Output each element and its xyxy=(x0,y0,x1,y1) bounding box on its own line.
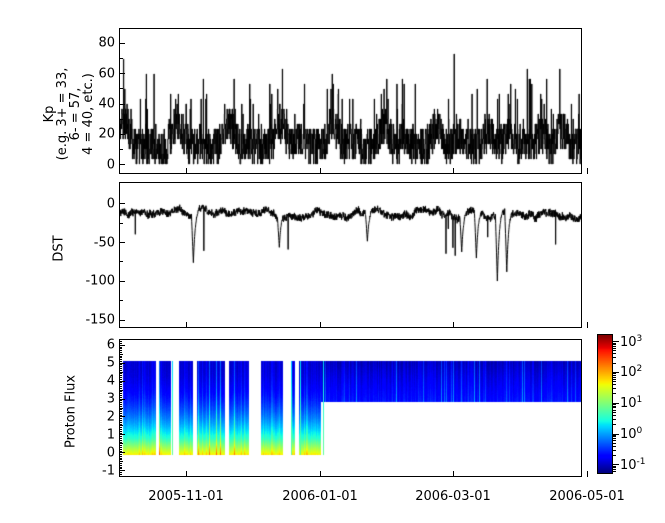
xtick-mark xyxy=(587,168,588,174)
ytick-minor xyxy=(119,364,122,365)
ytick-minor xyxy=(119,357,122,358)
xtick-mark xyxy=(320,471,321,477)
ytick-minor xyxy=(119,88,123,89)
colorbar-tick-label: 103 xyxy=(620,334,642,350)
ytick-minor xyxy=(119,434,122,435)
ytick-minor xyxy=(119,427,122,428)
kp-label-line: 4 = 40, etc.) xyxy=(82,39,95,189)
ytick-minor xyxy=(119,424,122,425)
ytick-minor xyxy=(119,422,122,423)
colorbar-tick-label: 101 xyxy=(620,395,642,411)
ytick-label: -1 xyxy=(75,463,115,478)
colorbar-tick-minor xyxy=(613,379,616,380)
ytick-minor xyxy=(119,395,122,396)
ytick-minor xyxy=(119,402,122,403)
ytick-minor xyxy=(119,438,122,439)
ytick-minor xyxy=(119,223,123,224)
ytick-minor xyxy=(119,382,122,383)
xtick-label: 2005-11-01 xyxy=(148,489,224,504)
proton-flux-heatmap-canvas xyxy=(120,340,581,476)
ytick-label: 0 xyxy=(75,445,115,460)
colorbar-tick-minor xyxy=(613,406,616,407)
ytick-minor xyxy=(119,436,122,437)
xtick-mark xyxy=(320,322,321,328)
colorbar-tick-label: 100 xyxy=(620,426,642,442)
ytick-minor xyxy=(119,472,122,473)
ytick-minor xyxy=(119,339,122,340)
colorbar-tick-minor xyxy=(613,438,616,439)
ytick-minor xyxy=(119,413,122,414)
colorbar-tick-minor xyxy=(613,384,616,385)
ytick-label: 3 xyxy=(75,392,115,407)
colorbar-tick-minor xyxy=(613,446,616,447)
ytick-minor xyxy=(119,465,122,466)
ytick-minor xyxy=(119,404,122,405)
colorbar-tick-minor xyxy=(613,404,616,405)
ytick-minor xyxy=(119,399,122,400)
ytick-minor xyxy=(119,431,122,432)
ytick-minor xyxy=(119,476,122,477)
ytick-minor xyxy=(119,454,122,455)
ytick-label: 0 xyxy=(75,196,115,211)
colorbar-tick-minor xyxy=(613,450,616,451)
colorbar-tick-minor xyxy=(613,363,616,364)
ytick-label: 4 xyxy=(75,374,115,389)
ytick-minor xyxy=(119,440,122,441)
figure-root: 020406080 Kp(e.g. 3+ = 33,6- = 57,4 = 40… xyxy=(0,0,665,523)
ytick-minor xyxy=(119,411,122,412)
xtick-mark xyxy=(453,322,454,328)
colorbar-tick-minor xyxy=(613,471,616,472)
ytick-minor xyxy=(119,354,122,355)
colorbar-tick-minor xyxy=(613,350,616,351)
ytick-minor xyxy=(119,433,122,434)
ytick-minor xyxy=(119,343,122,344)
ytick-minor xyxy=(119,379,122,380)
ytick-minor xyxy=(119,370,122,371)
ytick-minor xyxy=(119,415,122,416)
colorbar-tick-minor xyxy=(613,469,616,470)
ytick-minor xyxy=(119,470,122,471)
ytick-minor xyxy=(119,352,122,353)
colorbar-tick-minor xyxy=(613,388,616,389)
ytick-minor xyxy=(119,363,122,364)
ytick-minor xyxy=(119,456,122,457)
ytick-minor xyxy=(119,366,122,367)
xtick-label: 2006-03-01 xyxy=(415,489,491,504)
colorbar-tick-minor xyxy=(613,440,616,441)
colorbar-tick-minor xyxy=(613,412,616,413)
panel-kp xyxy=(119,28,582,174)
colorbar-tick-label: 10-1 xyxy=(620,457,646,473)
colorbar-tick-minor xyxy=(613,467,616,468)
colorbar-tick-minor xyxy=(613,424,616,425)
colorbar-tick-minor xyxy=(613,419,616,420)
colorbar-tick-label: 102 xyxy=(620,364,642,380)
xtick-mark xyxy=(587,471,588,477)
colorbar-tick-minor xyxy=(613,393,616,394)
proton-axis-label: Proton Flux xyxy=(65,357,78,467)
colorbar-tick-minor xyxy=(613,407,616,408)
ytick-minor xyxy=(119,459,122,460)
kp-axis-label: Kp(e.g. 3+ = 33,6- = 57,4 = 40, etc.) xyxy=(43,39,95,189)
ytick-minor xyxy=(119,409,122,410)
ytick-minor xyxy=(119,348,122,349)
colorbar-tick-minor xyxy=(613,410,616,411)
xtick-mark xyxy=(186,168,187,174)
ytick-label: 1 xyxy=(75,427,115,442)
colorbar-tick-minor xyxy=(613,343,616,344)
ytick-minor xyxy=(119,468,122,469)
ytick-minor xyxy=(119,359,122,360)
ytick-mark xyxy=(119,320,125,321)
ytick-minor xyxy=(119,356,122,357)
ytick-minor xyxy=(119,347,122,348)
colorbar-exponent: 1 xyxy=(637,395,643,405)
colorbar-exponent: 3 xyxy=(637,334,643,344)
colorbar-exponent: 0 xyxy=(637,426,643,436)
ytick-minor xyxy=(119,393,122,394)
ytick-mark xyxy=(119,203,125,204)
colorbar-tick-minor xyxy=(613,348,616,349)
ytick-minor xyxy=(119,429,122,430)
ytick-minor xyxy=(119,372,122,373)
panel-proton-flux xyxy=(119,339,582,477)
ytick-minor xyxy=(119,149,123,150)
ytick-minor xyxy=(119,408,122,409)
colorbar-tick-minor xyxy=(613,455,616,456)
ytick-minor xyxy=(119,384,122,385)
ytick-mark xyxy=(119,164,125,165)
dst-axis-label: DST xyxy=(53,214,66,284)
ytick-minor xyxy=(119,58,123,59)
ytick-label: 6 xyxy=(75,338,115,353)
xtick-mark xyxy=(320,168,321,174)
ytick-label: -100 xyxy=(75,274,115,289)
colorbar-tick-minor xyxy=(613,373,616,374)
xtick-mark xyxy=(453,168,454,174)
colorbar-tick-minor xyxy=(613,357,616,358)
ytick-minor xyxy=(119,390,122,391)
ytick-minor xyxy=(119,397,122,398)
ytick-label: -150 xyxy=(75,313,115,328)
ytick-minor xyxy=(119,391,122,392)
colorbar-exponent: 2 xyxy=(637,364,643,374)
ytick-minor xyxy=(119,386,122,387)
ytick-minor xyxy=(119,445,122,446)
ytick-minor xyxy=(119,443,122,444)
ytick-label: 2 xyxy=(75,409,115,424)
ytick-label: 5 xyxy=(75,356,115,371)
ytick-minor xyxy=(119,442,122,443)
dst-trace-canvas xyxy=(120,183,581,327)
ytick-mark xyxy=(119,73,125,74)
ytick-minor xyxy=(119,377,122,378)
ytick-mark xyxy=(119,104,125,105)
colorbar-tick-minor xyxy=(613,377,616,378)
ytick-minor xyxy=(119,474,122,475)
xtick-mark xyxy=(453,471,454,477)
colorbar-tick-minor xyxy=(613,436,616,437)
colorbar-tick-minor xyxy=(613,353,616,354)
ytick-minor xyxy=(119,447,122,448)
xtick-label: 2006-05-01 xyxy=(549,489,625,504)
ytick-mark xyxy=(119,43,125,44)
ytick-label: -50 xyxy=(75,235,115,250)
ytick-mark xyxy=(119,281,125,282)
ytick-minor xyxy=(119,416,122,417)
ytick-minor xyxy=(119,406,122,407)
ytick-minor xyxy=(119,381,122,382)
colorbar-exponent: -1 xyxy=(637,457,646,467)
ytick-minor xyxy=(119,458,122,459)
kp-trace-canvas xyxy=(120,29,581,173)
ytick-minor xyxy=(119,451,122,452)
ytick-minor xyxy=(119,388,122,389)
colorbar-tick-minor xyxy=(613,415,616,416)
ytick-minor xyxy=(119,461,122,462)
panel-dst xyxy=(119,182,582,328)
colorbar-tick-minor xyxy=(613,466,616,467)
ytick-minor xyxy=(119,463,122,464)
colorbar-tick-minor xyxy=(613,344,616,345)
xtick-mark xyxy=(587,322,588,328)
ytick-minor xyxy=(119,452,122,453)
colorbar-frame xyxy=(597,334,613,474)
ytick-minor xyxy=(119,425,122,426)
colorbar-gradient xyxy=(598,335,612,473)
ytick-mark xyxy=(119,242,125,243)
colorbar-tick-minor xyxy=(613,443,616,444)
ytick-minor xyxy=(119,418,122,419)
colorbar-tick-minor xyxy=(613,381,616,382)
ytick-minor xyxy=(119,420,122,421)
colorbar-tick-minor xyxy=(613,435,616,436)
xtick-mark xyxy=(186,322,187,328)
ytick-minor xyxy=(119,373,122,374)
xtick-mark xyxy=(186,471,187,477)
colorbar-tick-minor xyxy=(613,346,616,347)
ytick-minor xyxy=(119,345,122,346)
ytick-minor xyxy=(119,300,123,301)
ytick-minor xyxy=(119,350,122,351)
xtick-label: 2006-01-01 xyxy=(282,489,358,504)
ytick-minor xyxy=(119,119,123,120)
ytick-minor xyxy=(119,467,122,468)
ytick-mark xyxy=(119,134,125,135)
ytick-minor xyxy=(119,261,123,262)
ytick-minor xyxy=(119,341,122,342)
ytick-minor xyxy=(119,400,122,401)
ytick-minor xyxy=(119,375,122,376)
ytick-minor xyxy=(119,368,122,369)
ytick-minor xyxy=(119,361,122,362)
colorbar-tick-minor xyxy=(613,375,616,376)
ytick-minor xyxy=(119,449,122,450)
